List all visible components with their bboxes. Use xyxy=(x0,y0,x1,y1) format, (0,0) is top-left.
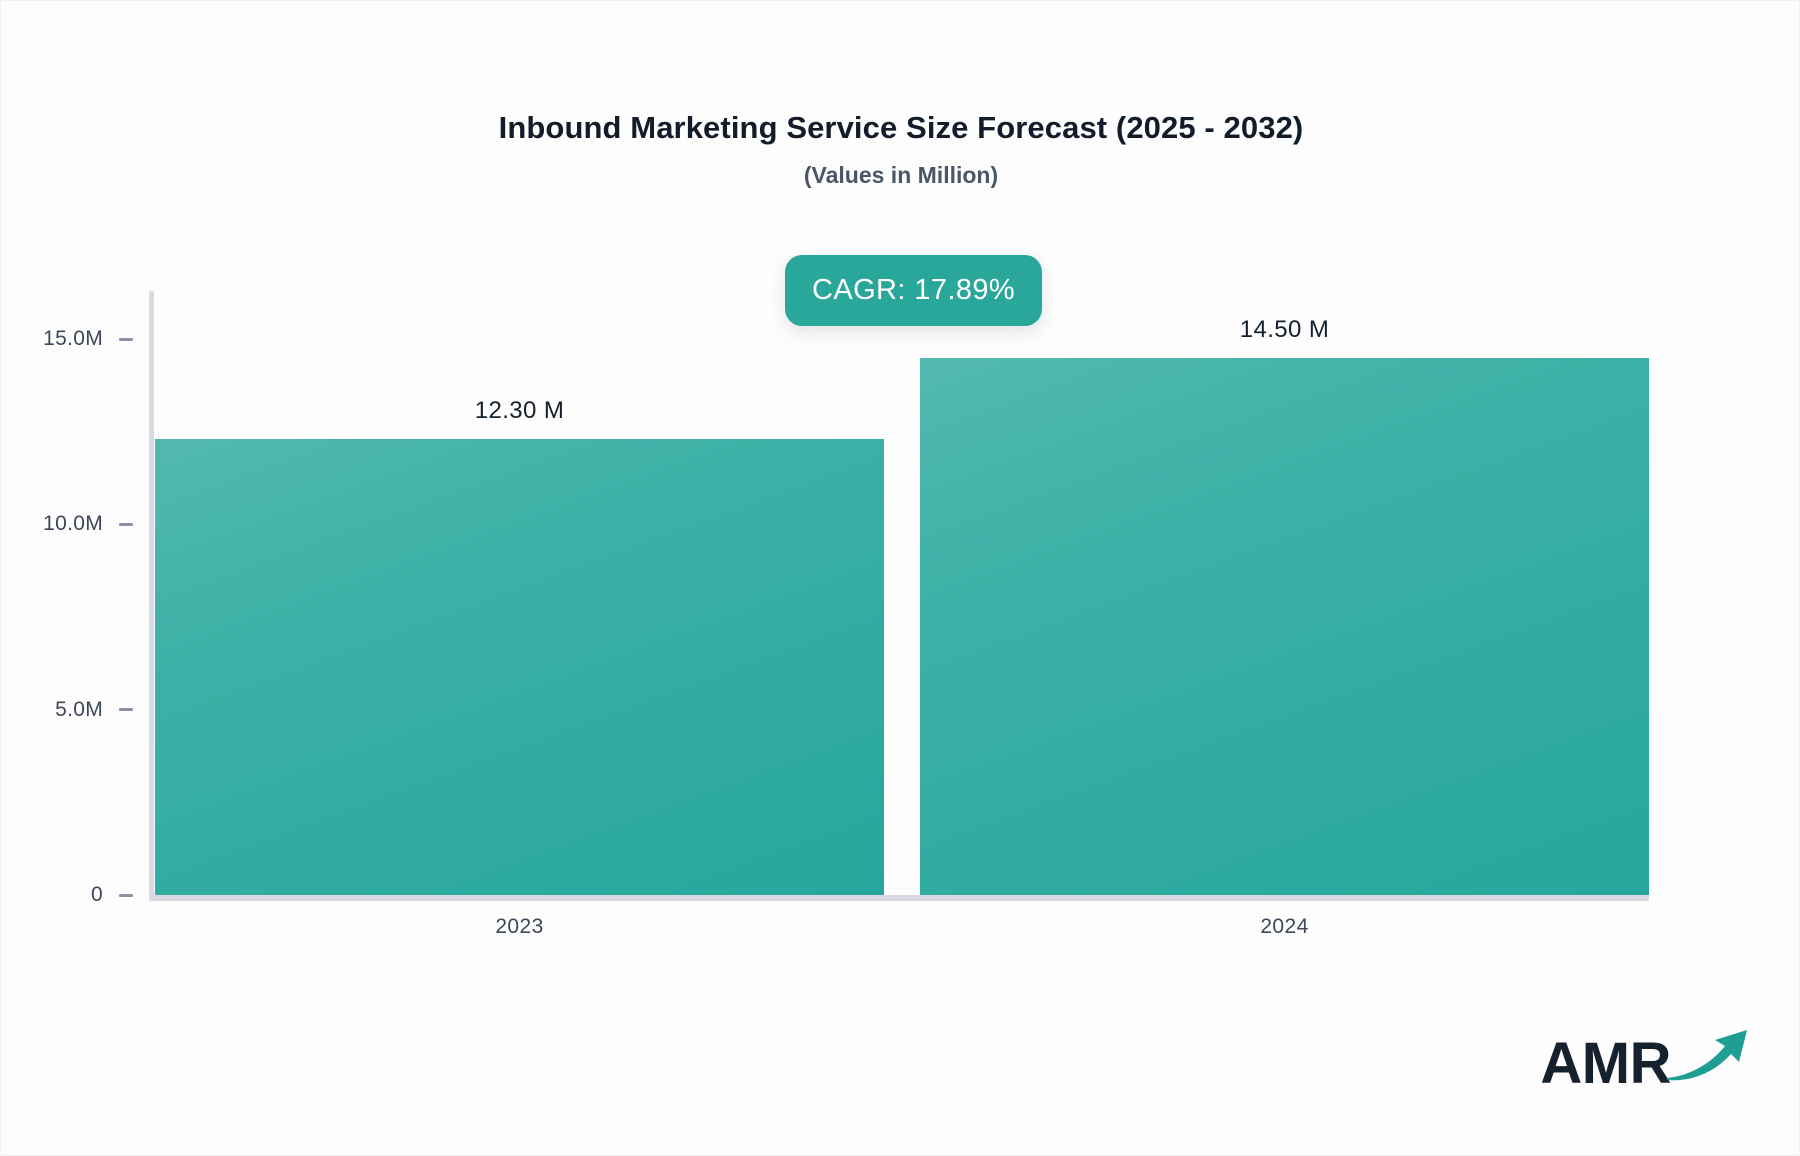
growth-arrow-icon xyxy=(1665,1024,1751,1089)
chart-canvas: Inbound Marketing Service Size Forecast … xyxy=(0,0,1800,1156)
chart-title: Inbound Marketing Service Size Forecast … xyxy=(1,109,1800,146)
x-axis-line xyxy=(149,895,1649,901)
bar-2024[interactable] xyxy=(920,358,1649,895)
bar-column-2023[interactable]: 12.30 M 2023 xyxy=(155,291,884,895)
y-tick-dash-icon xyxy=(119,894,133,897)
y-tick-label: 15.0M xyxy=(43,327,103,351)
x-tick-label-2023: 2023 xyxy=(155,915,884,939)
amr-logo: AMR xyxy=(1540,1024,1751,1093)
x-tick-label-2024: 2024 xyxy=(920,915,1649,939)
plot-area: 15.0M 10.0M 5.0M 0 12.30 M 2023 14.50 M xyxy=(149,291,1649,901)
chart-subtitle: (Values in Million) xyxy=(1,162,1800,190)
y-tick-dash-icon xyxy=(119,708,133,711)
logo-text: AMR xyxy=(1540,1035,1671,1093)
bar-value-label: 12.30 M xyxy=(155,397,884,425)
y-tick-dash-icon xyxy=(119,338,133,341)
y-axis-line xyxy=(149,291,154,899)
y-tick-1: 5.0M xyxy=(1,698,149,722)
chart-header: Inbound Marketing Service Size Forecast … xyxy=(1,109,1800,190)
y-tick-dash-icon xyxy=(119,523,133,526)
bar-column-2024[interactable]: 14.50 M 2024 xyxy=(920,291,1649,895)
y-tick-0: 0 xyxy=(1,883,149,907)
cagr-badge: CAGR: 17.89% xyxy=(785,255,1042,326)
y-tick-label: 0 xyxy=(91,883,103,907)
y-tick-label: 10.0M xyxy=(43,512,103,536)
y-tick-label: 5.0M xyxy=(55,698,103,722)
bar-series: 12.30 M 2023 14.50 M 2024 xyxy=(155,291,1649,895)
y-tick-2: 10.0M xyxy=(1,512,149,536)
bar-2023[interactable] xyxy=(155,439,884,895)
y-tick-3: 15.0M xyxy=(1,327,149,351)
